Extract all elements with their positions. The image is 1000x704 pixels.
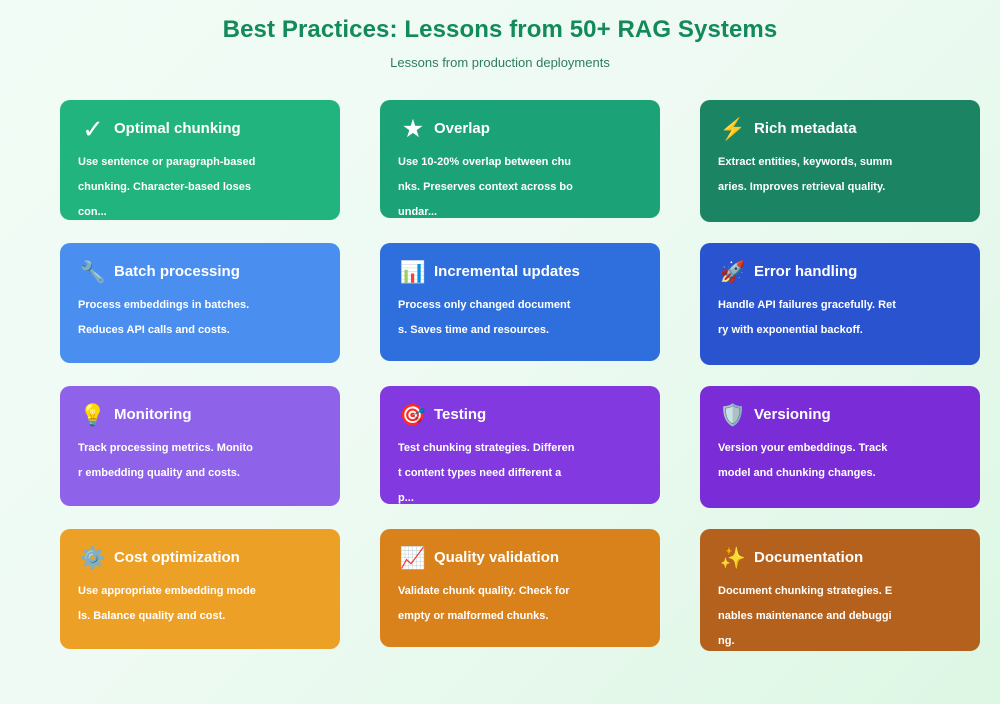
practice-card-description: Document chunking strategies. Enables ma… — [718, 579, 896, 651]
practice-card-description: Use sentence or paragraph-based chunking… — [78, 150, 256, 220]
best-practices-card-grid: ✓Optimal chunkingUse sentence or paragra… — [60, 100, 980, 651]
practice-card-header: ⚡Rich metadata — [718, 114, 962, 144]
practice-card-header: 🎯Testing — [398, 400, 642, 430]
practice-card-description: Process only changed documents. Saves ti… — [398, 293, 576, 343]
practice-card[interactable]: ★OverlapUse 10-20% overlap between chunk… — [380, 100, 660, 218]
shield-icon: 🛡️ — [718, 400, 748, 430]
practice-card-title: Cost optimization — [114, 548, 240, 568]
light-bulb-icon: 💡 — [78, 400, 108, 430]
gear-icon: ⚙️ — [78, 543, 108, 573]
practice-card-title: Error handling — [754, 262, 857, 282]
practice-card-header: ⚙️Cost optimization — [78, 543, 322, 573]
practice-card-title: Versioning — [754, 405, 831, 425]
practice-card[interactable]: 📊Incremental updatesProcess only changed… — [380, 243, 660, 361]
practice-card[interactable]: ⚙️Cost optimizationUse appropriate embed… — [60, 529, 340, 649]
practice-card-description: Use appropriate embedding models. Balanc… — [78, 579, 256, 629]
practice-card-header: 💡Monitoring — [78, 400, 322, 430]
practice-card-title: Documentation — [754, 548, 863, 568]
practice-card-title: Monitoring — [114, 405, 191, 425]
practice-card[interactable]: 🛡️VersioningVersion your embeddings. Tra… — [700, 386, 980, 508]
practice-card[interactable]: 🔧Batch processingProcess embeddings in b… — [60, 243, 340, 363]
practice-card-header: 🛡️Versioning — [718, 400, 962, 430]
practice-card-header: 🚀Error handling — [718, 257, 962, 287]
page-header: Best Practices: Lessons from 50+ RAG Sys… — [0, 0, 1000, 72]
practice-card[interactable]: 📈Quality validationValidate chunk qualit… — [380, 529, 660, 647]
check-mark-icon: ✓ — [78, 114, 108, 144]
practice-card-title: Quality validation — [434, 548, 559, 568]
practice-card-title: Testing — [434, 405, 486, 425]
high-voltage-icon: ⚡ — [718, 114, 748, 144]
chart-increasing-icon: 📈 — [398, 543, 428, 573]
rocket-icon: 🚀 — [718, 257, 748, 287]
page-title: Best Practices: Lessons from 50+ RAG Sys… — [0, 14, 1000, 46]
practice-card-description: Test chunking strategies. Different cont… — [398, 436, 576, 504]
practice-card-description: Process embeddings in batches. Reduces A… — [78, 293, 256, 343]
practice-card[interactable]: ✨DocumentationDocument chunking strategi… — [700, 529, 980, 651]
best-practices-page: Best Practices: Lessons from 50+ RAG Sys… — [0, 0, 1000, 704]
practice-card-description: Extract entities, keywords, summaries. I… — [718, 150, 896, 200]
practice-card-header: 🔧Batch processing — [78, 257, 322, 287]
practice-card[interactable]: 🎯TestingTest chunking strategies. Differ… — [380, 386, 660, 504]
wrench-icon: 🔧 — [78, 257, 108, 287]
dart-target-icon: 🎯 — [398, 400, 428, 430]
sparkles-icon: ✨ — [718, 543, 748, 573]
practice-card-description: Version your embeddings. Track model and… — [718, 436, 896, 486]
practice-card-description: Use 10-20% overlap between chunks. Prese… — [398, 150, 576, 218]
practice-card-title: Batch processing — [114, 262, 240, 282]
practice-card[interactable]: ⚡Rich metadataExtract entities, keywords… — [700, 100, 980, 222]
practice-card-title: Rich metadata — [754, 119, 857, 139]
practice-card-description: Validate chunk quality. Check for empty … — [398, 579, 576, 629]
practice-card-title: Optimal chunking — [114, 119, 241, 139]
practice-card-header: ★Overlap — [398, 114, 642, 144]
bar-chart-icon: 📊 — [398, 257, 428, 287]
practice-card-header: ✓Optimal chunking — [78, 114, 322, 144]
practice-card[interactable]: ✓Optimal chunkingUse sentence or paragra… — [60, 100, 340, 220]
practice-card-title: Overlap — [434, 119, 490, 139]
practice-card-title: Incremental updates — [434, 262, 580, 282]
practice-card-header: 📊Incremental updates — [398, 257, 642, 287]
practice-card-header: 📈Quality validation — [398, 543, 642, 573]
practice-card-description: Handle API failures gracefully. Retry wi… — [718, 293, 896, 343]
practice-card[interactable]: 🚀Error handlingHandle API failures grace… — [700, 243, 980, 365]
page-subtitle: Lessons from production deployments — [0, 54, 1000, 72]
practice-card-description: Track processing metrics. Monitor embedd… — [78, 436, 256, 486]
practice-card-header: ✨Documentation — [718, 543, 962, 573]
star-icon: ★ — [398, 114, 428, 144]
practice-card[interactable]: 💡MonitoringTrack processing metrics. Mon… — [60, 386, 340, 506]
